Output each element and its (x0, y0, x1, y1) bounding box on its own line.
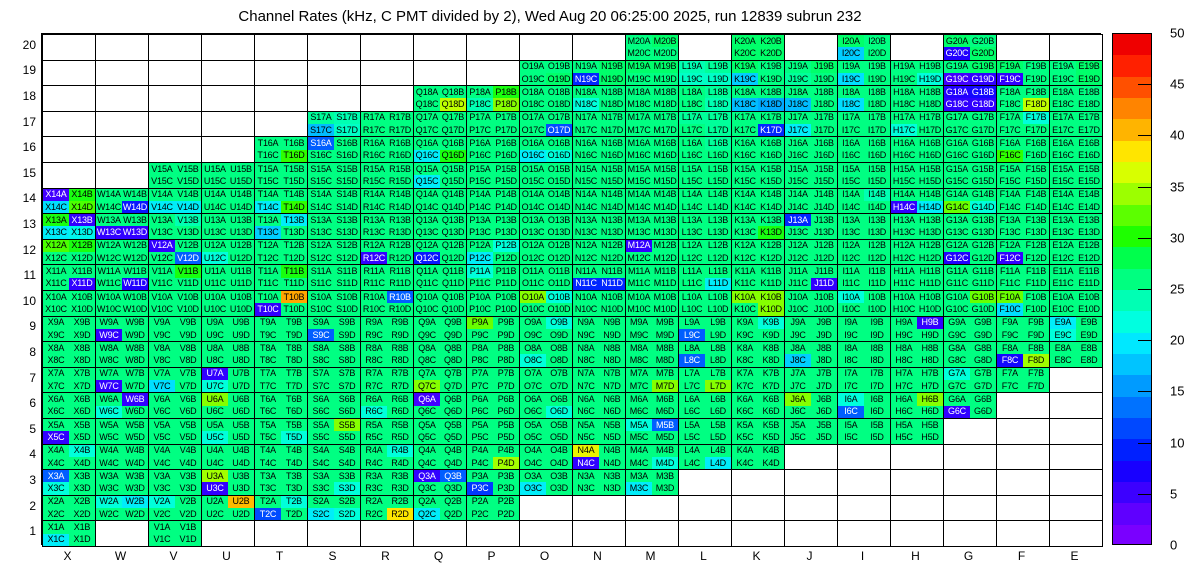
heatmap-subcell[interactable]: S17B (334, 112, 360, 124)
heatmap-subcell[interactable]: R5D (387, 431, 413, 443)
heatmap-cell[interactable]: J6AJ6BJ6CJ6D (784, 392, 838, 419)
heatmap-subcell[interactable]: I14B (864, 189, 890, 201)
heatmap-subcell[interactable]: Q3D (440, 482, 466, 494)
heatmap-subcell[interactable]: O9D (546, 329, 572, 341)
heatmap-subcell[interactable]: N8C (573, 354, 599, 366)
heatmap-cell[interactable] (1049, 520, 1103, 547)
heatmap-subcell[interactable]: U9C (202, 329, 228, 341)
heatmap-subcell[interactable]: S3A (308, 470, 334, 482)
heatmap-cell[interactable]: P14AP14BP14CP14D (466, 188, 520, 215)
heatmap-subcell[interactable]: S5B (334, 419, 360, 431)
heatmap-subcell[interactable]: G7A (944, 368, 970, 380)
heatmap-subcell[interactable]: H14C (891, 201, 917, 213)
heatmap-cell[interactable]: L12AL12BL12CL12D (678, 239, 732, 266)
heatmap-cell[interactable]: P16AP16BP16CP16D (466, 136, 520, 163)
heatmap-subcell[interactable]: P7C (467, 380, 493, 392)
heatmap-cell[interactable] (254, 34, 308, 61)
heatmap-cell[interactable]: H11AH11BH11CH11D (890, 264, 944, 291)
heatmap-cell[interactable]: Q5AQ5BQ5CQ5D (413, 418, 467, 445)
heatmap-subcell[interactable]: P8D (493, 354, 519, 366)
heatmap-cell[interactable]: E11AE11BE11CE11D (1049, 264, 1103, 291)
heatmap-subcell[interactable]: Q6B (440, 393, 466, 405)
heatmap-subcell[interactable]: T3C (255, 482, 281, 494)
heatmap-cell[interactable]: L15AL15BL15CL15D (678, 162, 732, 189)
heatmap-cell[interactable]: H17AH17BH17CH17D (890, 111, 944, 138)
heatmap-cell[interactable]: S8AS8BS8CS8D (307, 341, 361, 368)
heatmap-subcell[interactable]: R17D (387, 124, 413, 136)
heatmap-subcell[interactable]: P18B (493, 86, 519, 98)
heatmap-cell[interactable]: H19AH19BH19CH19D (890, 60, 944, 87)
heatmap-subcell[interactable]: N3D (599, 482, 625, 494)
heatmap-cell[interactable]: T2AT2BT2CT2D (254, 495, 308, 522)
heatmap-subcell[interactable]: N18A (573, 86, 599, 98)
heatmap-cell[interactable]: V8AV8BV8CV8D (148, 341, 202, 368)
heatmap-subcell[interactable]: M8B (652, 342, 678, 354)
heatmap-subcell[interactable]: G10B (970, 291, 996, 303)
heatmap-subcell[interactable]: F19A (997, 61, 1023, 73)
heatmap-cell[interactable]: K7AK7BK7CK7D (731, 367, 785, 394)
heatmap-cell[interactable] (890, 469, 944, 496)
heatmap-subcell[interactable]: W3B (122, 470, 148, 482)
heatmap-subcell[interactable]: Q13D (440, 226, 466, 238)
heatmap-subcell[interactable]: S16A (308, 137, 334, 149)
heatmap-subcell[interactable]: H12B (917, 240, 943, 252)
heatmap-subcell[interactable]: E11B (1076, 265, 1102, 277)
heatmap-subcell[interactable]: T4C (255, 457, 281, 469)
heatmap-subcell[interactable]: I5B (864, 419, 890, 431)
heatmap-cell[interactable]: K16AK16BK16CK16D (731, 136, 785, 163)
heatmap-cell[interactable]: S5AS5BS5CS5D (307, 418, 361, 445)
heatmap-subcell[interactable]: P16C (467, 150, 493, 162)
heatmap-subcell[interactable]: J5A (785, 419, 811, 431)
heatmap-subcell[interactable]: Q10A (414, 291, 440, 303)
heatmap-subcell[interactable]: R12D (387, 252, 413, 264)
heatmap-subcell[interactable]: R12C (361, 252, 387, 264)
heatmap-subcell[interactable]: H17B (917, 112, 943, 124)
heatmap-subcell[interactable]: W10A (96, 291, 122, 303)
heatmap-subcell[interactable]: M15C (626, 175, 652, 187)
heatmap-subcell[interactable]: T6A (255, 393, 281, 405)
heatmap-subcell[interactable]: H7D (917, 380, 943, 392)
heatmap-subcell[interactable]: S14D (334, 201, 360, 213)
heatmap-subcell[interactable]: R11A (361, 265, 387, 277)
heatmap-cell[interactable]: V11AV11BV11CV11D (148, 264, 202, 291)
heatmap-cell[interactable]: X6AX6BX6CX6D (42, 392, 96, 419)
heatmap-subcell[interactable]: K15B (758, 163, 784, 175)
heatmap-cell[interactable]: X2AX2BX2CX2D (42, 495, 96, 522)
heatmap-subcell[interactable]: R10D (387, 303, 413, 315)
heatmap-cell[interactable]: K13AK13BK13CK13D (731, 213, 785, 240)
heatmap-cell[interactable]: I19AI19BI19CI19D (837, 60, 891, 87)
heatmap-subcell[interactable]: S12A (308, 240, 334, 252)
heatmap-subcell[interactable]: G7D (970, 380, 996, 392)
heatmap-subcell[interactable]: U2A (202, 496, 228, 508)
heatmap-cell[interactable]: K20AK20BK20CK20D (731, 34, 785, 61)
heatmap-cell[interactable]: Q14AQ14BQ14CQ14D (413, 188, 467, 215)
heatmap-subcell[interactable]: L6A (679, 393, 705, 405)
heatmap-subcell[interactable]: X2B (69, 496, 95, 508)
heatmap-subcell[interactable]: I15D (864, 175, 890, 187)
heatmap-subcell[interactable]: U15C (202, 175, 228, 187)
heatmap-subcell[interactable]: U8D (228, 354, 254, 366)
heatmap-subcell[interactable]: G9D (970, 329, 996, 341)
heatmap-subcell[interactable]: X13A (43, 214, 69, 226)
heatmap-subcell[interactable]: O6A (520, 393, 546, 405)
heatmap-subcell[interactable]: R8C (361, 354, 387, 366)
heatmap-subcell[interactable]: H12D (917, 252, 943, 264)
heatmap-subcell[interactable]: O3B (546, 470, 572, 482)
heatmap-subcell[interactable]: H7B (917, 368, 943, 380)
heatmap-cell[interactable] (201, 136, 255, 163)
heatmap-cell[interactable]: M18AM18BM18CM18D (625, 85, 679, 112)
heatmap-subcell[interactable]: P6C (467, 406, 493, 418)
heatmap-subcell[interactable]: O11C (520, 278, 546, 290)
heatmap-cell[interactable] (254, 111, 308, 138)
heatmap-subcell[interactable]: E9B (1076, 317, 1102, 329)
heatmap-cell[interactable]: I16AI16BI16CI16D (837, 136, 891, 163)
heatmap-subcell[interactable]: I5D (864, 431, 890, 443)
heatmap-subcell[interactable]: L16B (705, 137, 731, 149)
heatmap-subcell[interactable]: P16B (493, 137, 519, 149)
heatmap-cell[interactable] (1049, 367, 1103, 394)
heatmap-subcell[interactable]: I10D (864, 303, 890, 315)
heatmap-cell[interactable]: F9AF9BF9CF9D (996, 316, 1050, 343)
heatmap-subcell[interactable]: U13A (202, 214, 228, 226)
heatmap-subcell[interactable]: E15D (1076, 175, 1102, 187)
heatmap-cell[interactable]: T14AT14BT14CT14D (254, 188, 308, 215)
heatmap-subcell[interactable]: O8C (520, 354, 546, 366)
heatmap-cell[interactable] (42, 60, 96, 87)
heatmap-cell[interactable]: P5AP5BP5CP5D (466, 418, 520, 445)
heatmap-subcell[interactable]: H9D (917, 329, 943, 341)
heatmap-subcell[interactable]: G6A (944, 393, 970, 405)
heatmap-subcell[interactable]: X2C (43, 508, 69, 520)
heatmap-subcell[interactable]: R3B (387, 470, 413, 482)
heatmap-subcell[interactable]: G19D (970, 73, 996, 85)
heatmap-subcell[interactable]: E15C (1050, 175, 1076, 187)
heatmap-cell[interactable]: L5AL5BL5CL5D (678, 418, 732, 445)
heatmap-subcell[interactable]: I17A (838, 112, 864, 124)
heatmap-subcell[interactable]: K17B (758, 112, 784, 124)
heatmap-cell[interactable]: M4AM4BM4CM4D (625, 444, 679, 471)
heatmap-subcell[interactable]: K8B (758, 342, 784, 354)
heatmap-subcell[interactable]: J17B (811, 112, 837, 124)
heatmap-subcell[interactable]: F10B (1023, 291, 1049, 303)
heatmap-subcell[interactable]: G16A (944, 137, 970, 149)
heatmap-subcell[interactable]: M15B (652, 163, 678, 175)
heatmap-cell[interactable]: H8AH8BH8CH8D (890, 341, 944, 368)
heatmap-cell[interactable]: F19AF19BF19CF19D (996, 60, 1050, 87)
heatmap-cell[interactable] (201, 85, 255, 112)
heatmap-subcell[interactable]: T14B (281, 189, 307, 201)
heatmap-subcell[interactable]: F16D (1023, 150, 1049, 162)
heatmap-subcell[interactable]: S11D (334, 278, 360, 290)
heatmap-subcell[interactable]: V10A (149, 291, 175, 303)
heatmap-subcell[interactable]: I20C (838, 47, 864, 59)
heatmap-cell[interactable]: W3AW3BW3CW3D (95, 469, 149, 496)
heatmap-cell[interactable]: S11AS11BS11CS11D (307, 264, 361, 291)
heatmap-subcell[interactable]: I8B (864, 342, 890, 354)
heatmap-cell[interactable]: F17AF17BF17CF17D (996, 111, 1050, 138)
heatmap-cell[interactable] (95, 162, 149, 189)
heatmap-subcell[interactable]: N9D (599, 329, 625, 341)
heatmap-subcell[interactable]: X3A (43, 470, 69, 482)
heatmap-cell[interactable] (307, 34, 361, 61)
heatmap-subcell[interactable]: K16A (732, 137, 758, 149)
heatmap-subcell[interactable]: J19C (785, 73, 811, 85)
heatmap-subcell[interactable]: N14A (573, 189, 599, 201)
heatmap-cell[interactable]: K10AK10BK10CK10D (731, 290, 785, 317)
heatmap-cell[interactable]: O6AO6BO6CO6D (519, 392, 573, 419)
heatmap-subcell[interactable]: T13A (255, 214, 281, 226)
heatmap-subcell[interactable]: L4C (679, 457, 705, 469)
heatmap-cell[interactable]: M15AM15BM15CM15D (625, 162, 679, 189)
heatmap-subcell[interactable]: E13B (1076, 214, 1102, 226)
heatmap-subcell[interactable]: T11B (281, 265, 307, 277)
heatmap-cell[interactable] (201, 520, 255, 547)
heatmap-subcell[interactable]: E11D (1076, 278, 1102, 290)
heatmap-subcell[interactable]: H5A (891, 419, 917, 431)
heatmap-subcell[interactable]: E13D (1076, 226, 1102, 238)
heatmap-subcell[interactable]: F8A (997, 342, 1023, 354)
heatmap-cell[interactable]: M17AM17BM17CM17D (625, 111, 679, 138)
heatmap-subcell[interactable]: U12A (202, 240, 228, 252)
heatmap-subcell[interactable]: M20C (626, 47, 652, 59)
heatmap-subcell[interactable]: I9D (864, 329, 890, 341)
heatmap-subcell[interactable]: S6C (308, 406, 334, 418)
heatmap-subcell[interactable]: W2A (96, 496, 122, 508)
heatmap-subcell[interactable]: R4A (361, 445, 387, 457)
heatmap-subcell[interactable]: L12C (679, 252, 705, 264)
heatmap-subcell[interactable]: Q10D (440, 303, 466, 315)
heatmap-subcell[interactable]: I11C (838, 278, 864, 290)
heatmap-subcell[interactable]: N19B (599, 61, 625, 73)
heatmap-subcell[interactable]: M19A (626, 61, 652, 73)
heatmap-subcell[interactable]: O15A (520, 163, 546, 175)
heatmap-subcell[interactable]: R3D (387, 482, 413, 494)
heatmap-subcell[interactable]: X7D (69, 380, 95, 392)
heatmap-subcell[interactable]: K7A (732, 368, 758, 380)
heatmap-cell[interactable]: O13AO13BO13CO13D (519, 213, 573, 240)
heatmap-subcell[interactable]: S16D (334, 150, 360, 162)
heatmap-subcell[interactable]: V3D (175, 482, 201, 494)
heatmap-subcell[interactable]: K11B (758, 265, 784, 277)
heatmap-subcell[interactable]: F12C (997, 252, 1023, 264)
heatmap-cell[interactable]: K9AK9BK9CK9D (731, 316, 785, 343)
heatmap-cell[interactable] (519, 495, 573, 522)
heatmap-subcell[interactable]: X10D (69, 303, 95, 315)
heatmap-subcell[interactable]: H6C (891, 406, 917, 418)
heatmap-subcell[interactable]: H5D (917, 431, 943, 443)
heatmap-subcell[interactable]: J10A (785, 291, 811, 303)
heatmap-subcell[interactable]: P3C (467, 482, 493, 494)
heatmap-cell[interactable]: P18AP18BP18CP18D (466, 85, 520, 112)
heatmap-cell[interactable]: N9AN9BN9CN9D (572, 316, 626, 343)
heatmap-subcell[interactable]: N4B (599, 445, 625, 457)
heatmap-subcell[interactable]: Q18A (414, 86, 440, 98)
heatmap-subcell[interactable]: N12C (573, 252, 599, 264)
heatmap-subcell[interactable]: L7B (705, 368, 731, 380)
heatmap-subcell[interactable]: L15B (705, 163, 731, 175)
heatmap-subcell[interactable]: V4C (149, 457, 175, 469)
heatmap-cell[interactable]: T6AT6BT6CT6D (254, 392, 308, 419)
heatmap-subcell[interactable]: M13D (652, 226, 678, 238)
heatmap-subcell[interactable]: Q12B (440, 240, 466, 252)
heatmap-cell[interactable]: H6AH6BH6CH6D (890, 392, 944, 419)
heatmap-subcell[interactable]: K16B (758, 137, 784, 149)
heatmap-subcell[interactable]: M6B (652, 393, 678, 405)
heatmap-subcell[interactable]: W5D (122, 431, 148, 443)
heatmap-subcell[interactable]: M8A (626, 342, 652, 354)
heatmap-subcell[interactable]: F14C (997, 201, 1023, 213)
heatmap-subcell[interactable]: X13B (69, 214, 95, 226)
heatmap-cell[interactable]: M7AM7BM7CM7D (625, 367, 679, 394)
heatmap-subcell[interactable]: R7B (387, 368, 413, 380)
heatmap-cell[interactable] (148, 34, 202, 61)
heatmap-cell[interactable]: N19AN19BN19CN19D (572, 60, 626, 87)
heatmap-subcell[interactable]: S3D (334, 482, 360, 494)
heatmap-subcell[interactable]: O19D (546, 73, 572, 85)
heatmap-subcell[interactable]: X11B (69, 265, 95, 277)
heatmap-subcell[interactable]: J17A (785, 112, 811, 124)
heatmap-subcell[interactable]: H15B (917, 163, 943, 175)
heatmap-subcell[interactable]: Q15B (440, 163, 466, 175)
heatmap-subcell[interactable]: J18A (785, 86, 811, 98)
heatmap-subcell[interactable]: N15A (573, 163, 599, 175)
heatmap-subcell[interactable]: H19C (891, 73, 917, 85)
heatmap-subcell[interactable]: S6B (334, 393, 360, 405)
heatmap-cell[interactable]: X14AX14BX14CX14D (42, 188, 96, 215)
heatmap-subcell[interactable]: G9B (970, 317, 996, 329)
heatmap-subcell[interactable]: S4D (334, 457, 360, 469)
heatmap-subcell[interactable]: P17D (493, 124, 519, 136)
heatmap-cell[interactable]: X7AX7BX7CX7D (42, 367, 96, 394)
heatmap-subcell[interactable]: L15A (679, 163, 705, 175)
heatmap-subcell[interactable]: L9B (705, 317, 731, 329)
heatmap-subcell[interactable]: F14A (997, 189, 1023, 201)
heatmap-subcell[interactable]: S12C (308, 252, 334, 264)
heatmap-subcell[interactable]: M11D (652, 278, 678, 290)
heatmap-subcell[interactable]: K18B (758, 86, 784, 98)
heatmap-subcell[interactable]: O3D (546, 482, 572, 494)
heatmap-subcell[interactable]: L18A (679, 86, 705, 98)
heatmap-cell[interactable] (625, 495, 679, 522)
heatmap-subcell[interactable]: O15D (546, 175, 572, 187)
heatmap-subcell[interactable]: V5B (175, 419, 201, 431)
heatmap-subcell[interactable]: V4D (175, 457, 201, 469)
heatmap-cell[interactable]: E16AE16BE16CE16D (1049, 136, 1103, 163)
heatmap-subcell[interactable]: X8D (69, 354, 95, 366)
heatmap-subcell[interactable]: V10B (175, 291, 201, 303)
heatmap-subcell[interactable]: M4A (626, 445, 652, 457)
heatmap-subcell[interactable]: T8B (281, 342, 307, 354)
heatmap-subcell[interactable]: K18D (758, 98, 784, 110)
heatmap-subcell[interactable]: O3C (520, 482, 546, 494)
heatmap-subcell[interactable]: X13D (69, 226, 95, 238)
heatmap-subcell[interactable]: H13A (891, 214, 917, 226)
heatmap-subcell[interactable]: J12C (785, 252, 811, 264)
heatmap-subcell[interactable]: G15C (944, 175, 970, 187)
heatmap-subcell[interactable]: I13C (838, 226, 864, 238)
heatmap-subcell[interactable]: Q5B (440, 419, 466, 431)
heatmap-subcell[interactable]: I13A (838, 214, 864, 226)
heatmap-subcell[interactable]: U2B (228, 496, 254, 508)
heatmap-subcell[interactable]: K10B (758, 291, 784, 303)
heatmap-subcell[interactable]: W3D (122, 482, 148, 494)
heatmap-subcell[interactable]: X6D (69, 406, 95, 418)
heatmap-subcell[interactable]: T13B (281, 214, 307, 226)
heatmap-cell[interactable]: X13AX13BX13CX13D (42, 213, 96, 240)
heatmap-subcell[interactable]: N5C (573, 431, 599, 443)
heatmap-subcell[interactable]: P7D (493, 380, 519, 392)
heatmap-subcell[interactable]: W8D (122, 354, 148, 366)
heatmap-subcell[interactable]: I9B (864, 317, 890, 329)
heatmap-subcell[interactable]: R2C (361, 508, 387, 520)
heatmap-subcell[interactable]: O8D (546, 354, 572, 366)
heatmap-subcell[interactable]: Q15A (414, 163, 440, 175)
heatmap-subcell[interactable]: E18A (1050, 86, 1076, 98)
heatmap-cell[interactable] (678, 34, 732, 61)
heatmap-subcell[interactable]: Q4C (414, 457, 440, 469)
heatmap-subcell[interactable]: T9D (281, 329, 307, 341)
heatmap-cell[interactable] (731, 469, 785, 496)
heatmap-cell[interactable]: J7AJ7BJ7CJ7D (784, 367, 838, 394)
heatmap-subcell[interactable]: U3B (228, 470, 254, 482)
heatmap-subcell[interactable]: R17C (361, 124, 387, 136)
heatmap-subcell[interactable]: U2D (228, 508, 254, 520)
heatmap-subcell[interactable]: I7C (838, 380, 864, 392)
heatmap-subcell[interactable]: J7A (785, 368, 811, 380)
heatmap-cell[interactable]: J12AJ12BJ12CJ12D (784, 239, 838, 266)
heatmap-subcell[interactable]: F14B (1023, 189, 1049, 201)
heatmap-cell[interactable]: T16AT16BT16CT16D (254, 136, 308, 163)
heatmap-subcell[interactable]: V12B (175, 240, 201, 252)
heatmap-subcell[interactable]: U7A (202, 368, 228, 380)
heatmap-subcell[interactable]: N11B (599, 265, 625, 277)
heatmap-cell[interactable]: Q11AQ11BQ11CQ11D (413, 264, 467, 291)
heatmap-subcell[interactable]: L10B (705, 291, 731, 303)
heatmap-subcell[interactable]: X9D (69, 329, 95, 341)
heatmap-subcell[interactable]: J8C (785, 354, 811, 366)
heatmap-cell[interactable]: N11AN11BN11CN11D (572, 264, 626, 291)
heatmap-subcell[interactable]: M6D (652, 406, 678, 418)
heatmap-subcell[interactable]: M10B (652, 291, 678, 303)
heatmap-cell[interactable]: M11AM11BM11CM11D (625, 264, 679, 291)
heatmap-subcell[interactable]: N12B (599, 240, 625, 252)
heatmap-subcell[interactable]: F12A (997, 240, 1023, 252)
heatmap-cell[interactable]: O19AO19BO19CO19D (519, 60, 573, 87)
heatmap-subcell[interactable]: Q2D (440, 508, 466, 520)
heatmap-subcell[interactable]: L11C (679, 278, 705, 290)
heatmap-subcell[interactable]: T9B (281, 317, 307, 329)
heatmap-subcell[interactable]: M17D (652, 124, 678, 136)
heatmap-subcell[interactable]: L5B (705, 419, 731, 431)
heatmap-cell[interactable]: W10AW10BW10CW10D (95, 290, 149, 317)
heatmap-subcell[interactable]: E14D (1076, 201, 1102, 213)
heatmap-subcell[interactable]: U11B (228, 265, 254, 277)
heatmap-subcell[interactable]: O13A (520, 214, 546, 226)
heatmap-subcell[interactable]: F18A (997, 86, 1023, 98)
heatmap-subcell[interactable]: M8C (626, 354, 652, 366)
heatmap-subcell[interactable]: N13A (573, 214, 599, 226)
heatmap-subcell[interactable]: Q17B (440, 112, 466, 124)
heatmap-subcell[interactable]: O14B (546, 189, 572, 201)
heatmap-subcell[interactable]: X6A (43, 393, 69, 405)
heatmap-subcell[interactable]: W7D (122, 380, 148, 392)
heatmap-subcell[interactable]: R2A (361, 496, 387, 508)
heatmap-cell[interactable] (1049, 392, 1103, 419)
heatmap-subcell[interactable]: N10B (599, 291, 625, 303)
